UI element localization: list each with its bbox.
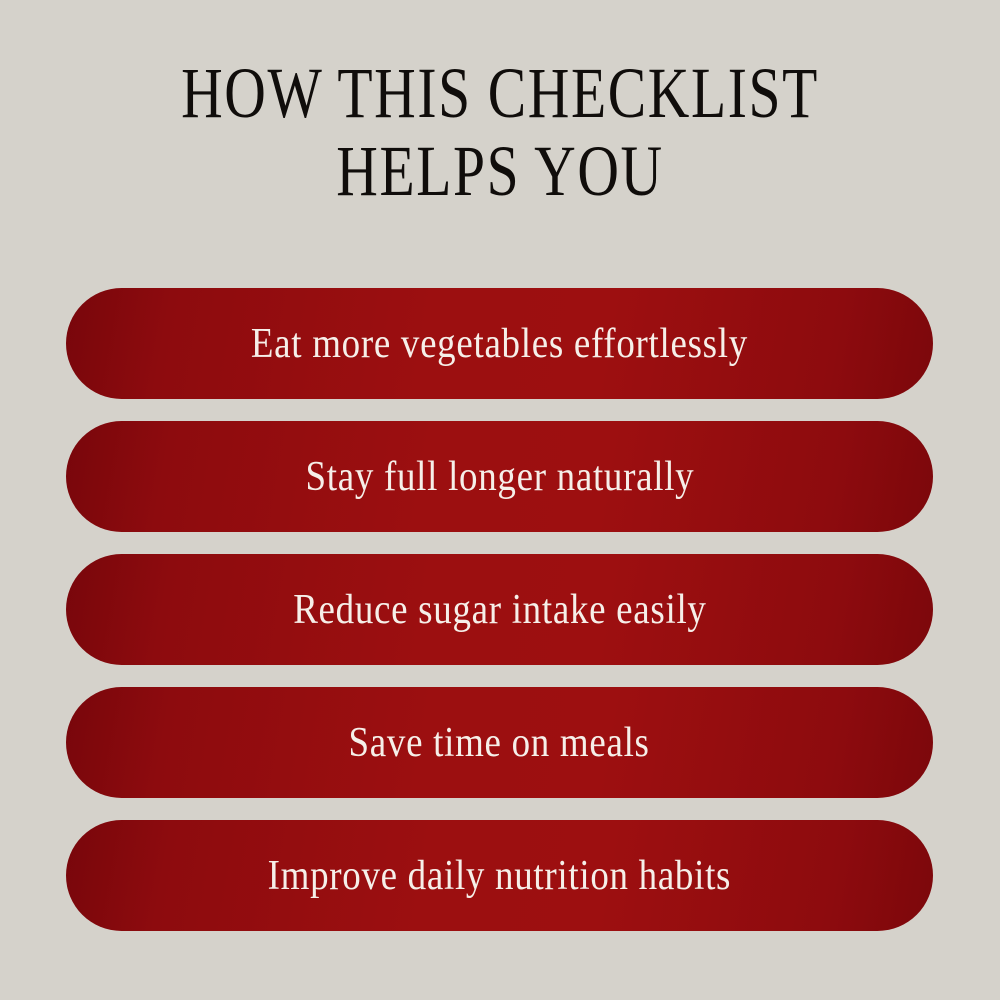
benefit-pill-3: Reduce sugar intake easily [66,554,933,665]
page-title-line-1: HOW THIS CHECKLIST [100,56,900,130]
benefit-pill-5: Improve daily nutrition habits [66,820,933,931]
benefit-label-2: Stay full longer naturally [305,454,694,500]
page-title: HOW THIS CHECKLIST HELPS YOU [0,56,1000,208]
benefit-label-1: Eat more vegetables effortlessly [251,321,748,367]
benefit-label-5: Improve daily nutrition habits [268,853,732,899]
benefit-label-3: Reduce sugar intake easily [293,587,706,633]
poster-canvas: HOW THIS CHECKLIST HELPS YOU Eat more ve… [0,0,1000,1000]
benefit-pill-4: Save time on meals [66,687,933,798]
benefit-pill-1: Eat more vegetables effortlessly [66,288,933,399]
benefit-pill-2: Stay full longer naturally [66,421,933,532]
page-title-line-2: HELPS YOU [100,134,900,208]
benefits-list: Eat more vegetables effortlessly Stay fu… [66,288,933,931]
benefit-label-4: Save time on meals [349,720,650,766]
